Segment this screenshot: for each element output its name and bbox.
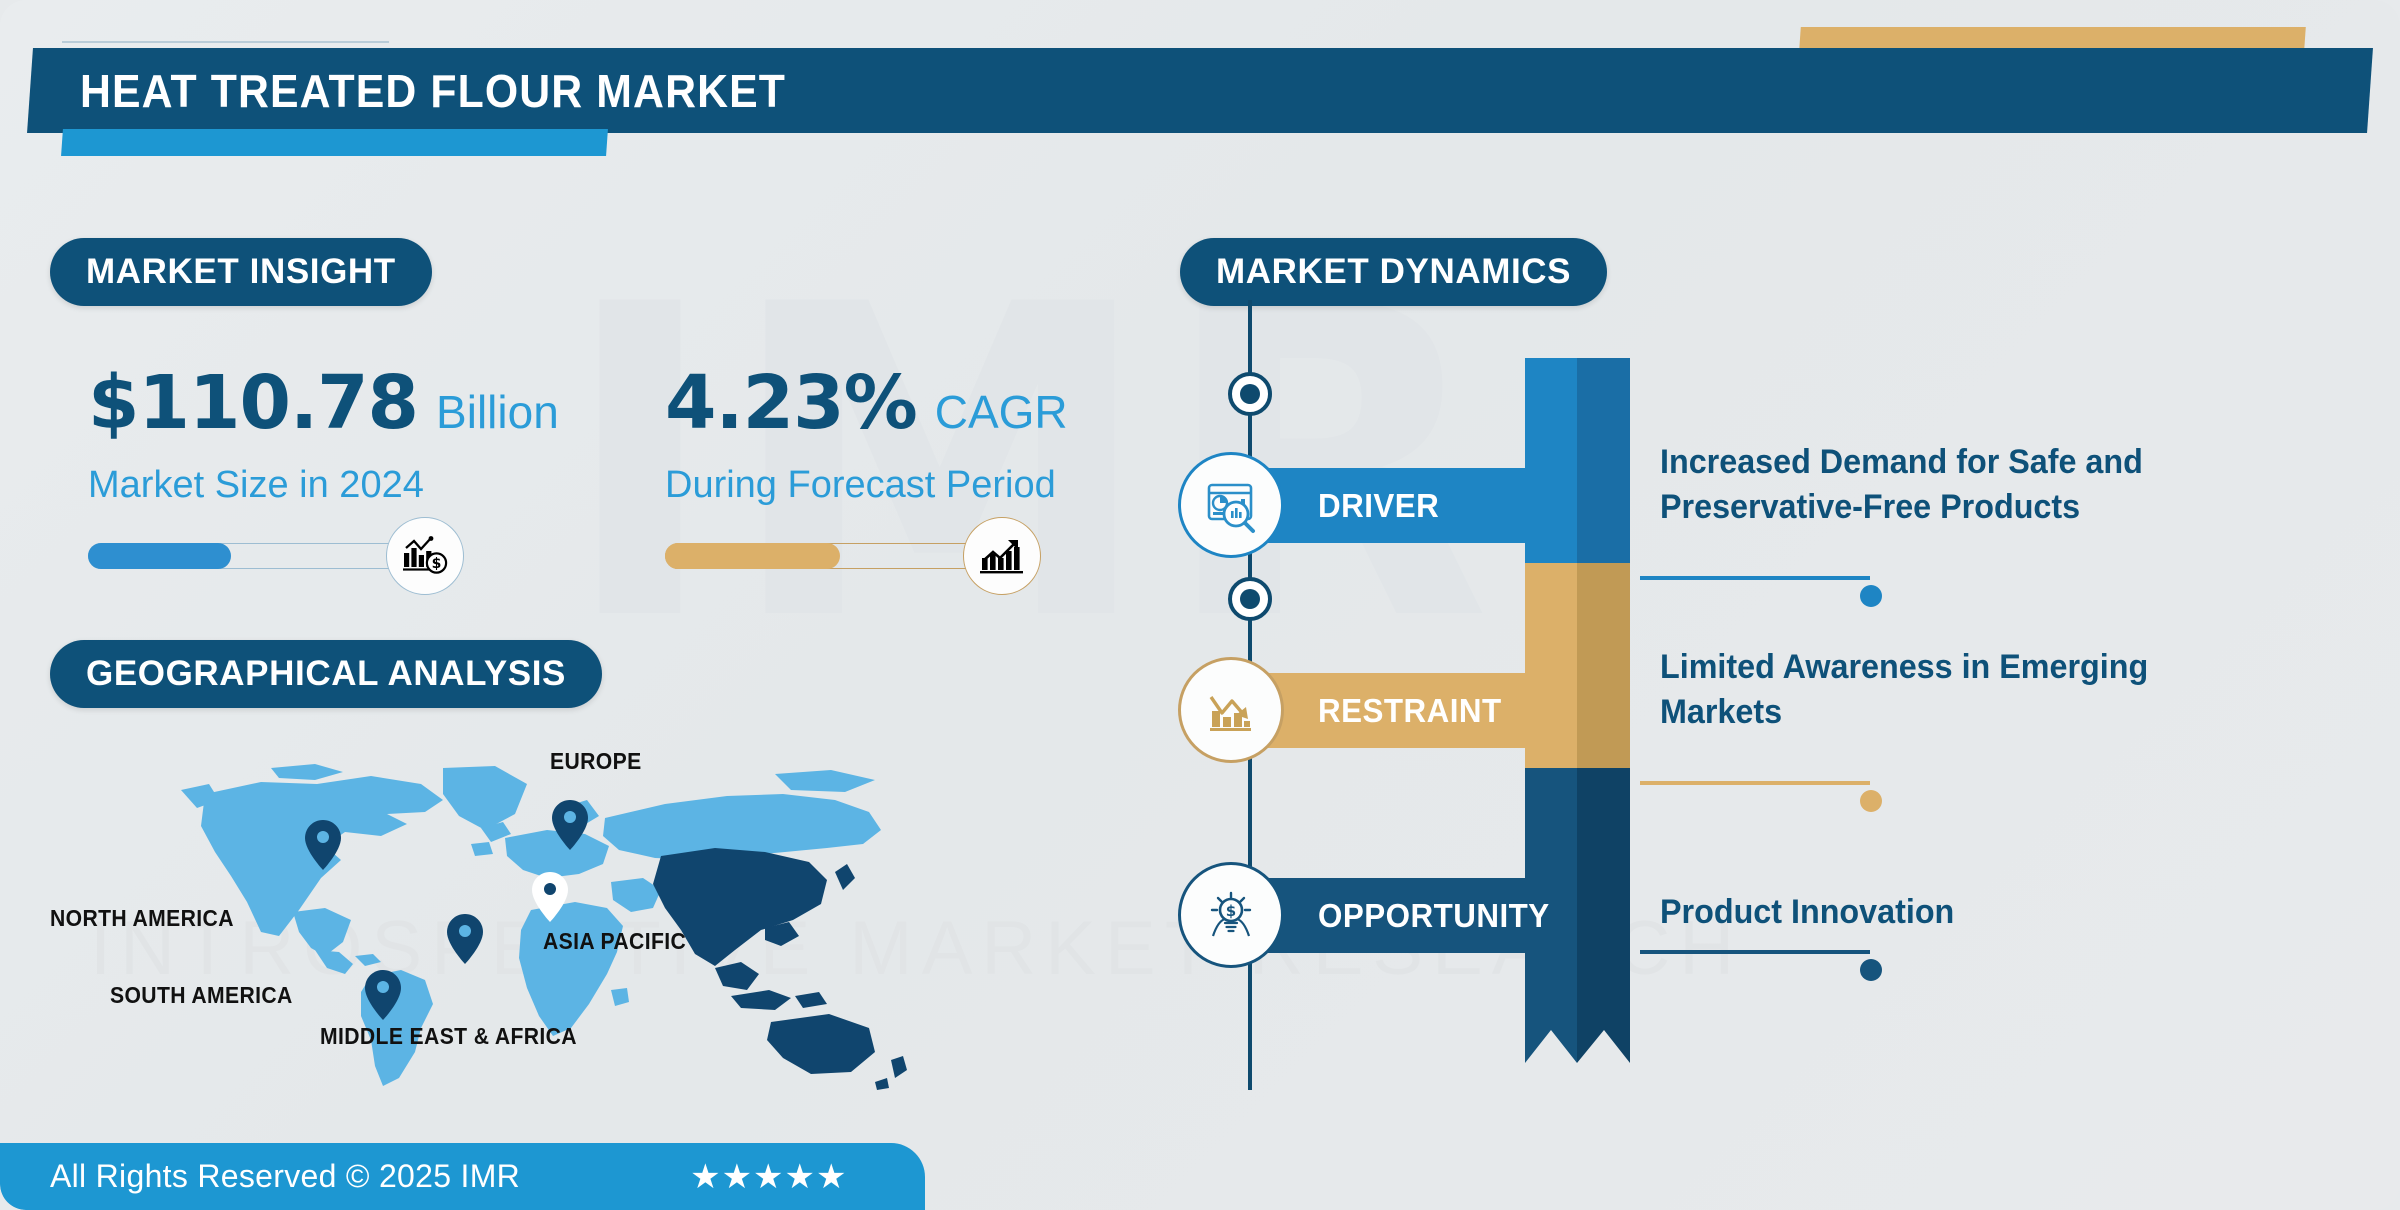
driver-lead-line	[1640, 576, 1870, 580]
cagr-value: 4.23%	[665, 360, 917, 446]
driver-text: Increased Demand for Safe and Preservati…	[1660, 440, 2249, 530]
opportunity-text: Product Innovation	[1660, 890, 2249, 935]
cagr-unit: CAGR	[935, 385, 1068, 439]
page-title: HEAT TREATED FLOUR MARKET	[80, 64, 786, 118]
dynamics-item-opportunity: OPPORTUNITY $	[1180, 790, 2380, 1040]
map-label-south-america: SOUTH AMERICA	[110, 982, 293, 1009]
opportunity-lead-dot	[1860, 959, 1882, 981]
cagr-caption: During Forecast Period	[665, 464, 1185, 507]
bar-chart-dollar-icon: $	[386, 517, 464, 595]
opportunity-lead-line	[1640, 950, 1870, 954]
restraint-text: Limited Awareness in Emerging Markets	[1660, 645, 2249, 735]
market-dynamics-panel: DRIVER	[1180, 300, 2380, 1160]
map-label-europe: EUROPE	[550, 748, 642, 775]
svg-text:$: $	[432, 556, 442, 572]
driver-label: DRIVER	[1318, 487, 1439, 525]
world-map: NORTH AMERICA EUROPE ASIA PACIFIC SOUTH …	[175, 760, 935, 1090]
map-pin-middle-east-africa	[447, 914, 483, 964]
restraint-label: RESTRAINT	[1318, 692, 1502, 730]
map-label-asia-pacific: ASIA PACIFIC	[543, 928, 686, 955]
header-bar: HEAT TREATED FLOUR MARKET	[27, 48, 2373, 133]
header-rule	[62, 41, 389, 43]
market-size-value: $110.78	[88, 360, 418, 446]
map-pin-europe	[552, 800, 588, 850]
cagr-progress	[665, 539, 1045, 573]
market-size-progress-fill	[88, 543, 231, 569]
restraint-lead-line	[1640, 781, 1870, 785]
map-pin-north-america	[305, 820, 341, 870]
restraint-ribbon: RESTRAINT	[1200, 673, 1545, 748]
opportunity-ribbon: OPPORTUNITY $	[1200, 878, 1545, 953]
lightbulb-dollar-icon: $	[1178, 862, 1284, 968]
cagr-progress-fill	[665, 543, 840, 569]
market-size-progress: $	[88, 539, 468, 573]
badge-market-insight: MARKET INSIGHT	[50, 238, 432, 306]
header-gold-accent	[1799, 27, 2306, 50]
footer-bar: All Rights Reserved © 2025 IMR ★★★★★	[0, 1143, 925, 1210]
market-size-caption: Market Size in 2024	[88, 464, 608, 507]
footer-copyright: All Rights Reserved © 2025 IMR	[50, 1158, 520, 1195]
infographic-canvas: IMR INTROSPECTIVE MARKET RESEARCH HEAT T…	[0, 0, 2400, 1210]
stat-cagr: 4.23% CAGR During Forecast Period	[665, 360, 1185, 573]
svg-text:$: $	[1226, 902, 1236, 920]
opportunity-label: OPPORTUNITY	[1318, 897, 1550, 935]
map-label-middle-east-africa: MIDDLE EAST & AFRICA	[320, 1023, 577, 1050]
badge-geographical-analysis: GEOGRAPHICAL ANALYSIS	[50, 640, 602, 708]
market-size-unit: Billion	[436, 385, 559, 439]
rating-stars-icon: ★★★★★	[690, 1157, 847, 1197]
header-blue-accent	[61, 129, 608, 156]
driver-ribbon: DRIVER	[1200, 468, 1545, 543]
map-pin-asia-pacific	[532, 872, 568, 922]
map-pin-south-america	[365, 970, 401, 1020]
growth-chart-arrow-icon	[963, 517, 1041, 595]
declining-bar-chart-icon	[1178, 657, 1284, 763]
map-label-north-america: NORTH AMERICA	[50, 905, 234, 932]
badge-market-dynamics: MARKET DYNAMICS	[1180, 238, 1607, 306]
stat-market-size: $110.78 Billion Market Size in 2024 $	[88, 360, 608, 573]
analytics-dashboard-search-icon	[1178, 452, 1284, 558]
